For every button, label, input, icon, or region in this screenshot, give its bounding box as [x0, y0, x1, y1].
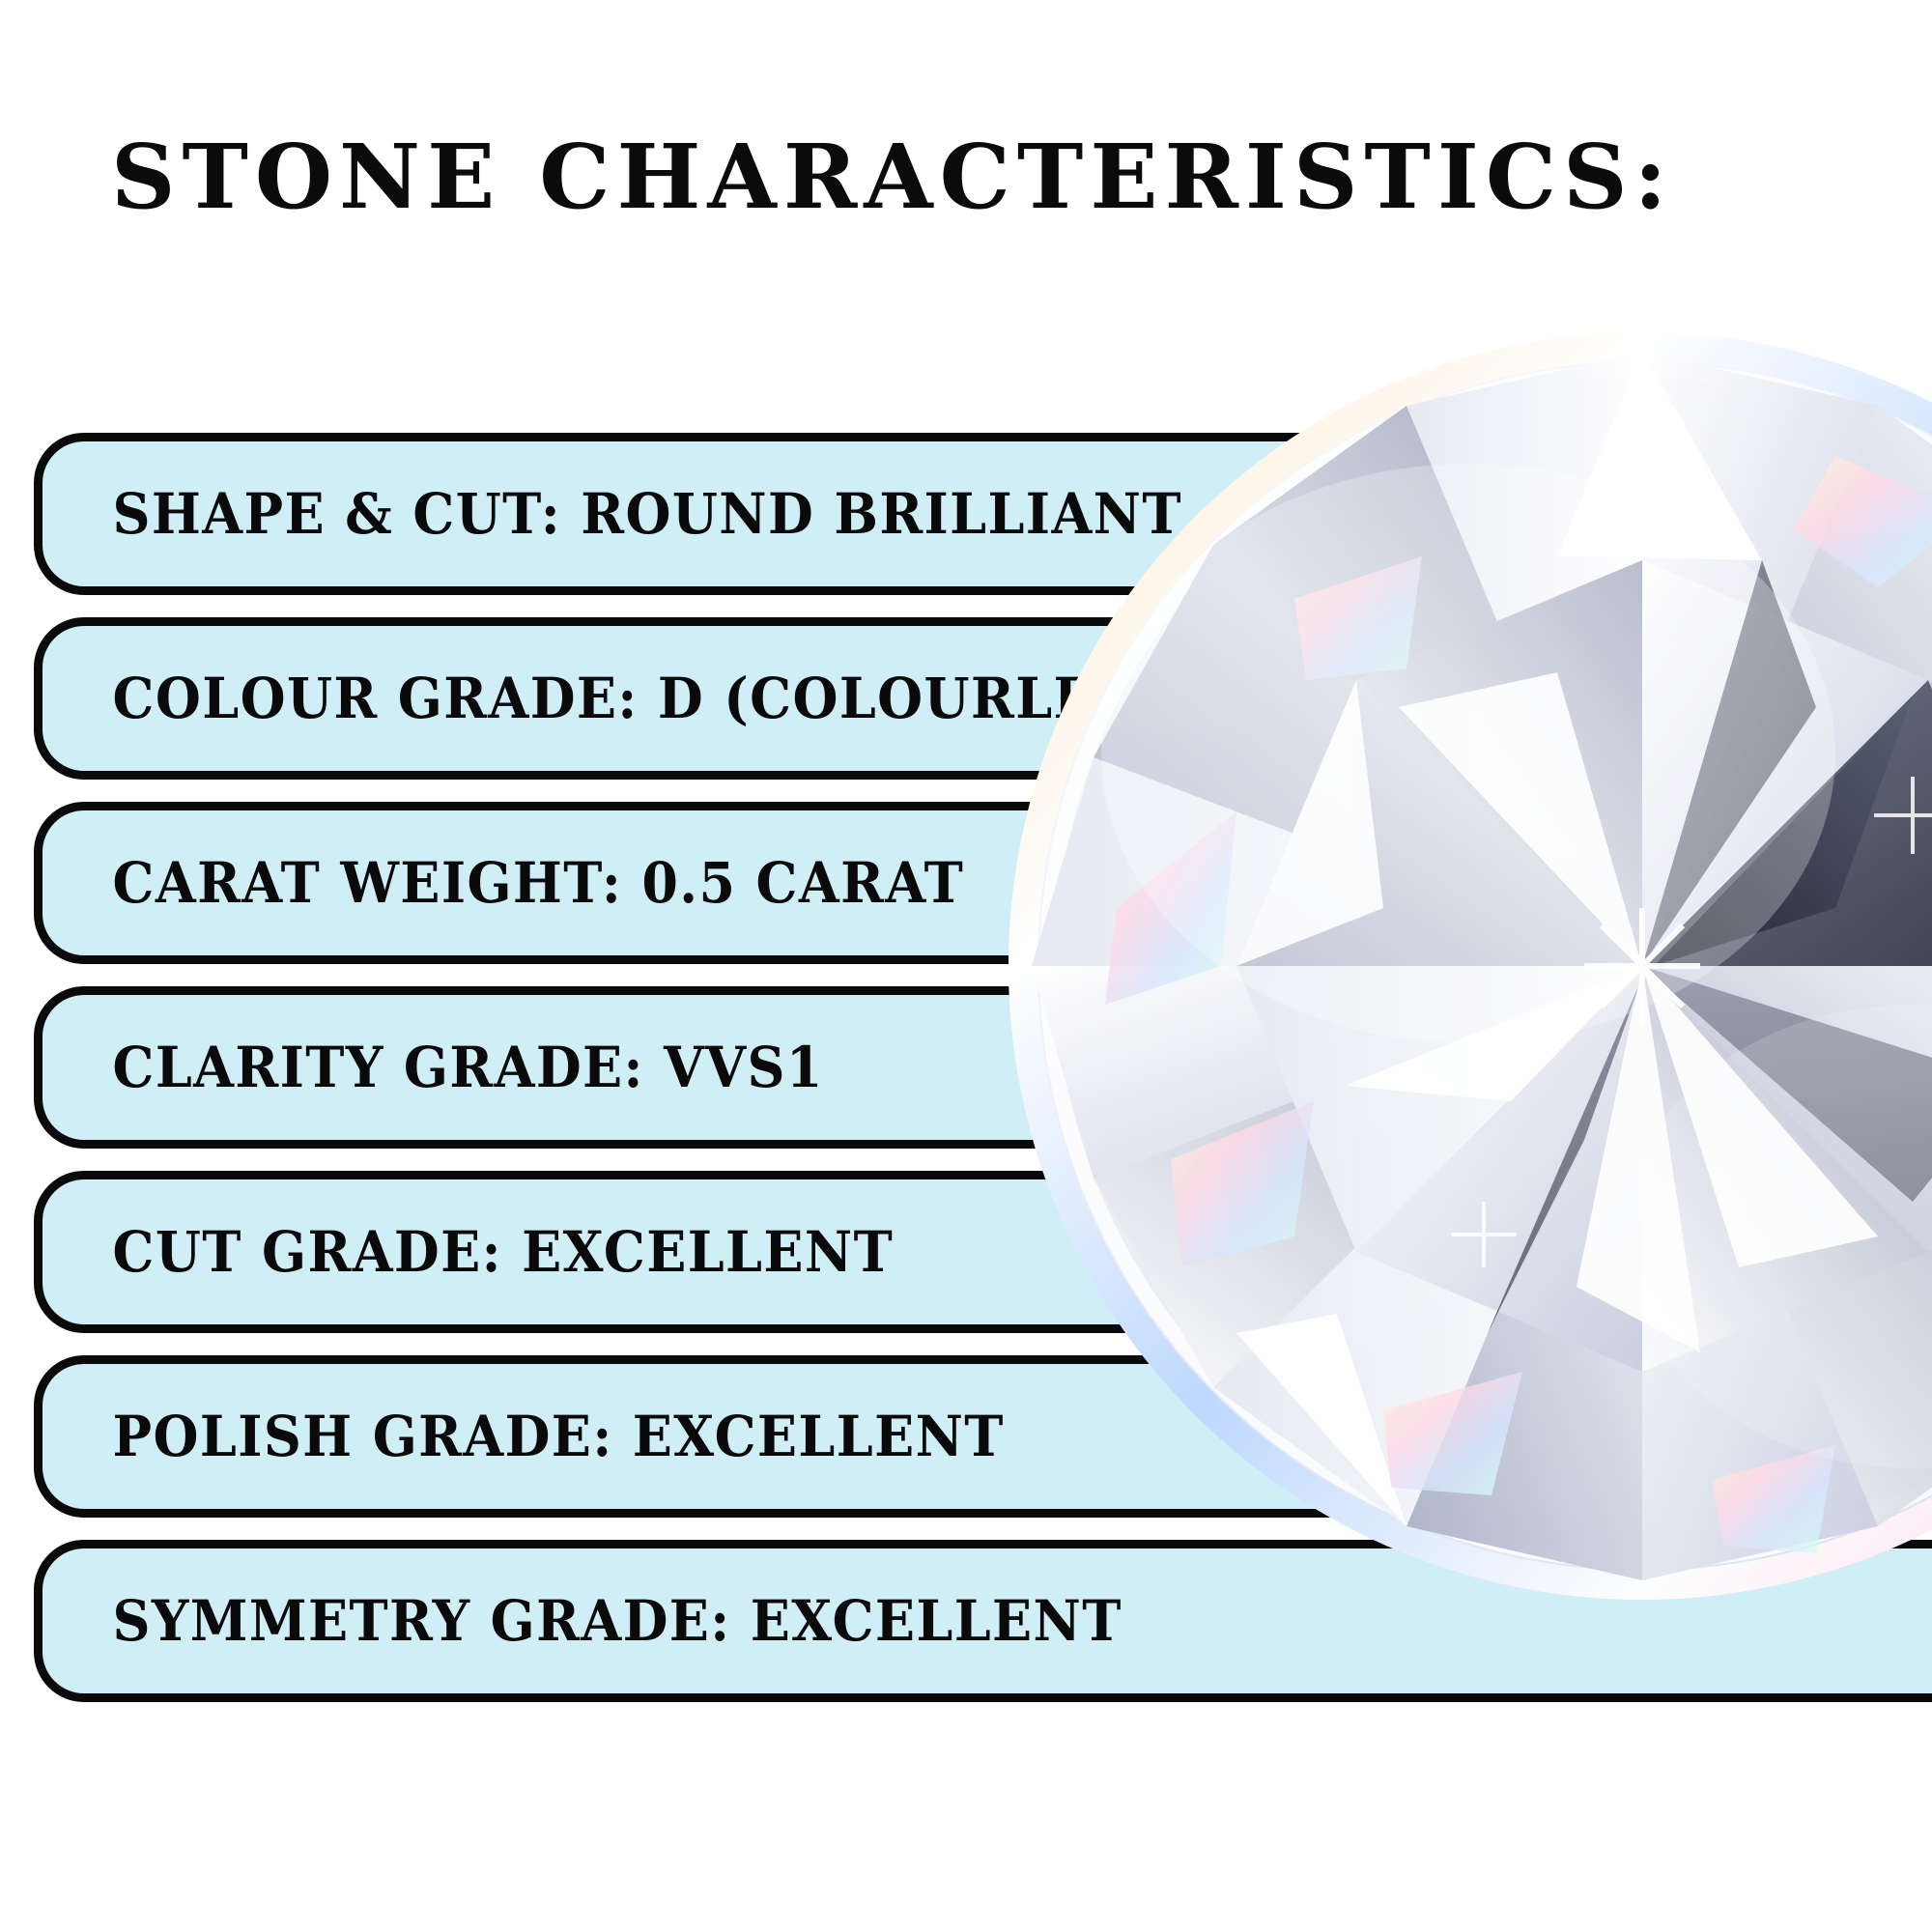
characteristic-label: SYMMETRY GRADE: EXCELLENT — [43, 1588, 1122, 1654]
list-item: COLOUR GRADE: D (COLOURLESS) — [0, 617, 1932, 802]
list-item: SYMMETRY GRADE: EXCELLENT — [0, 1540, 1932, 1724]
list-item: SHAPE & CUT: ROUND BRILLIANT — [0, 433, 1932, 617]
characteristic-label: SHAPE & CUT: ROUND BRILLIANT — [43, 481, 1182, 547]
characteristic-pill-polish-grade[interactable]: POLISH GRADE: EXCELLENT — [34, 1355, 1932, 1518]
characteristic-pill-shape-and-cut[interactable]: SHAPE & CUT: ROUND BRILLIANT — [34, 433, 1932, 595]
list-item: CUT GRADE: EXCELLENT — [0, 1171, 1932, 1355]
page-title: STONE CHARACTERISTICS: — [111, 124, 1850, 230]
characteristics-list: SHAPE & CUT: ROUND BRILLIANT COLOUR GRAD… — [0, 433, 1932, 1724]
stone-characteristics-card: STONE CHARACTERISTICS: SHAPE & CUT: ROUN… — [0, 0, 1932, 1932]
characteristic-label: POLISH GRADE: EXCELLENT — [43, 1404, 1005, 1469]
list-item: CLARITY GRADE: VVS1 — [0, 986, 1932, 1171]
characteristic-pill-cut-grade[interactable]: CUT GRADE: EXCELLENT — [34, 1171, 1932, 1333]
characteristic-pill-colour-grade[interactable]: COLOUR GRADE: D (COLOURLESS) — [34, 617, 1932, 780]
list-item: CARAT WEIGHT: 0.5 CARAT — [0, 802, 1932, 986]
characteristic-label: CUT GRADE: EXCELLENT — [43, 1219, 894, 1285]
characteristic-pill-clarity-grade[interactable]: CLARITY GRADE: VVS1 — [34, 986, 1932, 1149]
characteristic-label: COLOUR GRADE: D (COLOURLESS) — [43, 666, 1197, 731]
list-item: POLISH GRADE: EXCELLENT — [0, 1355, 1932, 1540]
characteristic-label: CLARITY GRADE: VVS1 — [43, 1035, 824, 1100]
characteristic-pill-symmetry-grade[interactable]: SYMMETRY GRADE: EXCELLENT — [34, 1540, 1932, 1702]
characteristic-label: CARAT WEIGHT: 0.5 CARAT — [43, 850, 964, 916]
characteristic-pill-carat-weight[interactable]: CARAT WEIGHT: 0.5 CARAT — [34, 802, 1932, 964]
